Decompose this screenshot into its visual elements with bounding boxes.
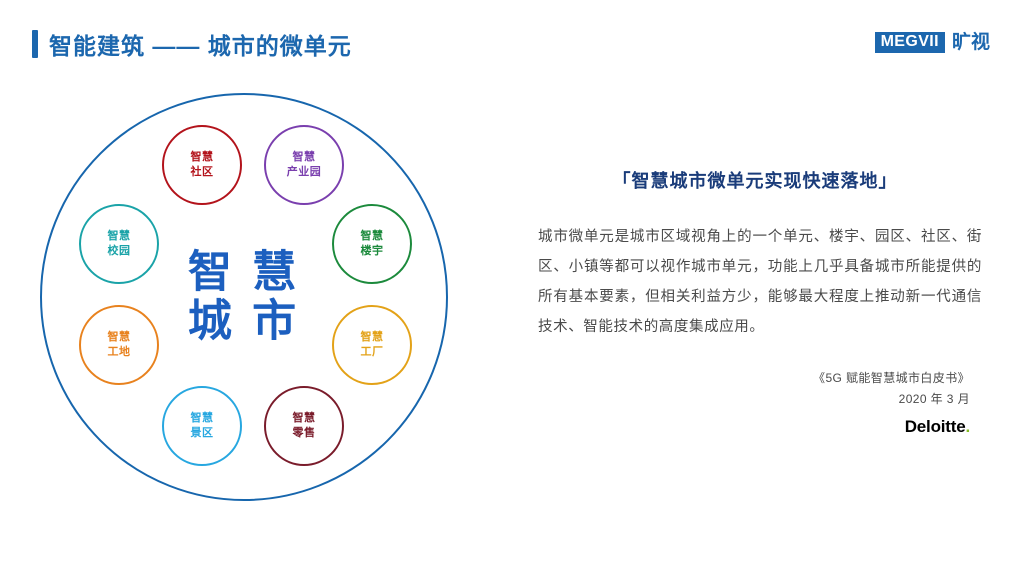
- node-label: 智慧 零售: [293, 411, 316, 441]
- node-label-line-2: 零售: [293, 426, 316, 441]
- node-label-line-2: 工地: [108, 345, 131, 360]
- deloitte-logo: Deloitte.: [520, 417, 970, 437]
- node-label-line-2: 校园: [108, 244, 131, 259]
- node-label-line-1: 智慧: [191, 150, 214, 165]
- node-label-line-2: 社区: [191, 165, 214, 180]
- node-smart-campus[interactable]: 智慧 校园: [79, 204, 159, 284]
- node-label-line-2: 产业园: [287, 165, 322, 180]
- node-smart-scenic-area[interactable]: 智慧 景区: [162, 386, 242, 466]
- node-label: 智慧 产业园: [287, 150, 322, 180]
- node-label-line-2: 景区: [191, 426, 214, 441]
- node-label: 智慧 工地: [108, 330, 131, 360]
- node-label: 智慧 社区: [191, 150, 214, 180]
- node-label-line-1: 智慧: [361, 330, 384, 345]
- node-label-line-1: 智慧: [293, 411, 316, 426]
- panel-heading: 「智慧城市微单元实现快速落地」: [520, 170, 990, 193]
- node-smart-community[interactable]: 智慧 社区: [162, 125, 242, 205]
- node-label-line-2: 楼宇: [361, 244, 384, 259]
- deloitte-wordmark: Deloitte: [905, 417, 966, 436]
- page-title: 智能建筑 —— 城市的微单元: [32, 27, 352, 61]
- node-label-line-1: 智慧: [108, 330, 131, 345]
- panel-source: 《5G 赋能智慧城市白皮书》 2020 年 3 月 Deloitte.: [520, 368, 990, 437]
- source-title: 《5G 赋能智慧城市白皮书》: [520, 368, 970, 389]
- node-smart-industrial-park[interactable]: 智慧 产业园: [264, 125, 344, 205]
- node-label-line-1: 智慧: [287, 150, 322, 165]
- center-label-line-2: 城 市: [188, 297, 300, 346]
- brand-wordmark-cn: 旷视: [952, 33, 990, 52]
- panel-body-text: 城市微单元是城市区域视角上的一个单元、楼宇、园区、社区、街区、小镇等都可以视作城…: [520, 223, 990, 342]
- node-label-line-1: 智慧: [108, 229, 131, 244]
- node-label-line-1: 智慧: [191, 411, 214, 426]
- deloitte-dot: .: [965, 417, 970, 436]
- text-panel: 「智慧城市微单元实现快速落地」 城市微单元是城市区域视角上的一个单元、楼宇、园区…: [520, 170, 990, 437]
- node-smart-construction-site[interactable]: 智慧 工地: [79, 305, 159, 385]
- diagram-center-label: 智 慧 城 市: [188, 248, 300, 347]
- node-smart-building[interactable]: 智慧 楼宇: [332, 204, 412, 284]
- node-label: 智慧 工厂: [361, 330, 384, 360]
- brand-wordmark: MEGVII: [875, 32, 945, 53]
- node-smart-retail[interactable]: 智慧 零售: [264, 386, 344, 466]
- title-accent-bar: [32, 30, 38, 58]
- node-label: 智慧 楼宇: [361, 229, 384, 259]
- source-date: 2020 年 3 月: [520, 389, 970, 410]
- node-label-line-2: 工厂: [361, 345, 384, 360]
- node-label-line-1: 智慧: [361, 229, 384, 244]
- smart-city-diagram: 智 慧 城 市 智慧 社区 智慧 产业园 智慧 楼宇 智慧 工厂 智慧 零售: [40, 93, 448, 501]
- center-label-line-1: 智 慧: [188, 248, 300, 297]
- page-title-text: 智能建筑 —— 城市的微单元: [49, 27, 352, 61]
- node-smart-factory[interactable]: 智慧 工厂: [332, 305, 412, 385]
- node-label: 智慧 校园: [108, 229, 131, 259]
- node-label: 智慧 景区: [191, 411, 214, 441]
- megvii-logo: MEGVII 旷视: [875, 32, 990, 53]
- slide-header: 智能建筑 —— 城市的微单元 MEGVII 旷视: [0, 0, 1024, 80]
